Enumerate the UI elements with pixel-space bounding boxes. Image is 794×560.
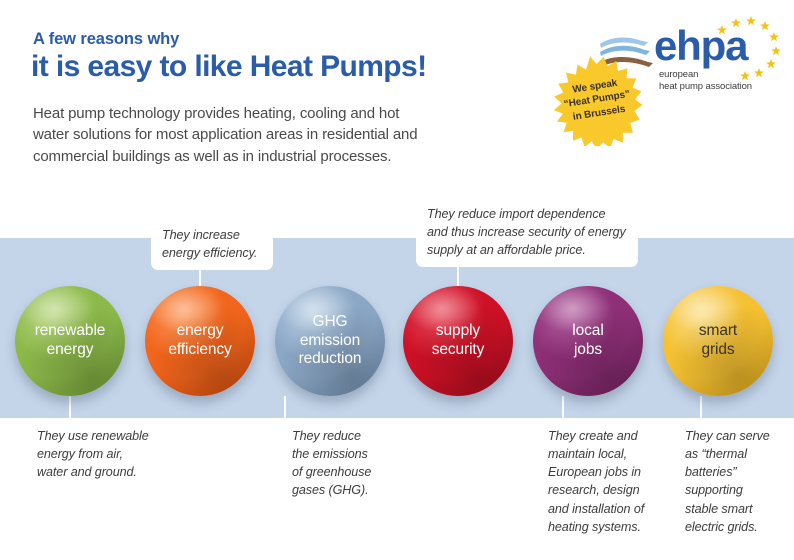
callout-line: batteries” [685,463,769,481]
callout-line: as “thermal [685,445,769,463]
callout-line: They reduce import dependence [427,205,627,223]
sphere-label-line: supply [432,322,485,341]
infographic-page: A few reasons why it is easy to like Hea… [0,0,794,560]
sphere-label-line: jobs [572,341,603,360]
sphere-label: smart grids [693,322,743,360]
sphere-label-line: grids [699,341,737,360]
intro-paragraph: Heat pump technology provides heating, c… [33,103,513,167]
callout-line: gases (GHG). [292,481,370,499]
header-kicker: A few reasons why [33,30,179,49]
sphere-supply-security[interactable]: supply security [403,286,513,396]
sphere-smart-grids[interactable]: smart grids [663,286,773,396]
sphere-renewable-energy[interactable]: renewable energy [15,286,125,396]
sphere-label: energy efficiency [162,322,237,360]
callout-line: European jobs in [548,463,656,481]
connector-line [700,396,702,422]
sphere-label-line: GHG [299,313,362,332]
callout-line: supporting [685,481,769,499]
callout-local-jobs: They create and maintain local, European… [537,420,667,544]
callout-line: They create and [548,427,656,445]
sphere-ghg-emission-reduction[interactable]: GHG emission reduction [275,286,385,396]
sphere-label: supply security [426,322,491,360]
callout-line: energy efficiency. [162,244,262,262]
sphere-label-line: emission [299,332,362,351]
callout-smart-grids: They can serve as “thermal batteries” su… [674,420,780,544]
eu-stars-icon [702,16,790,90]
intro-line: water solutions for most application are… [33,124,513,145]
badge-text: We speak “Heat Pumps” in Brussels [544,47,649,152]
callout-renewable-energy: They use renewable energy from air, wate… [26,420,157,489]
callout-line: and thus increase security of energy [427,223,627,241]
callout-ghg-emission-reduction: They reduce the emissions of greenhouse … [281,420,381,508]
sphere-label: renewable energy [29,322,112,360]
callout-line: the emissions [292,445,370,463]
sphere-label-line: renewable [35,322,106,341]
callout-line: supply at an affordable price. [427,241,627,259]
sphere-local-jobs[interactable]: local jobs [533,286,643,396]
callout-line: They use renewable [37,427,146,445]
callout-line: heating systems. [548,518,656,536]
page-title: it is easy to like Heat Pumps! [31,50,426,84]
callout-line: They can serve [685,427,769,445]
intro-line: commercial buildings as well as in indus… [33,146,513,167]
callout-line: They reduce [292,427,370,445]
sphere-label-line: local [572,322,603,341]
callout-supply-security: They reduce import dependence and thus i… [416,198,638,267]
callout-line: and installation of [548,500,656,518]
callout-line: of greenhouse [292,463,370,481]
callout-line: research, design [548,481,656,499]
sphere-label-line: security [432,341,485,360]
callout-line: maintain local, [548,445,656,463]
sphere-label-line: smart [699,322,737,341]
sphere-label: local jobs [566,322,609,360]
brussels-badge: We speak “Heat Pumps” in Brussels [551,54,643,146]
sphere-label-line: efficiency [168,341,231,360]
callout-line: water and ground. [37,463,146,481]
sphere-label-line: energy [168,322,231,341]
callout-line: electric grids. [685,518,769,536]
callout-energy-efficiency: They increase energy efficiency. [151,219,273,270]
sphere-label-line: reduction [299,350,362,369]
callout-line: energy from air, [37,445,146,463]
intro-line: Heat pump technology provides heating, c… [33,103,513,124]
sphere-energy-efficiency[interactable]: energy efficiency [145,286,255,396]
sphere-label: GHG emission reduction [293,313,368,370]
sphere-label-line: energy [35,341,106,360]
callout-line: They increase [162,226,262,244]
callout-line: stable smart [685,500,769,518]
